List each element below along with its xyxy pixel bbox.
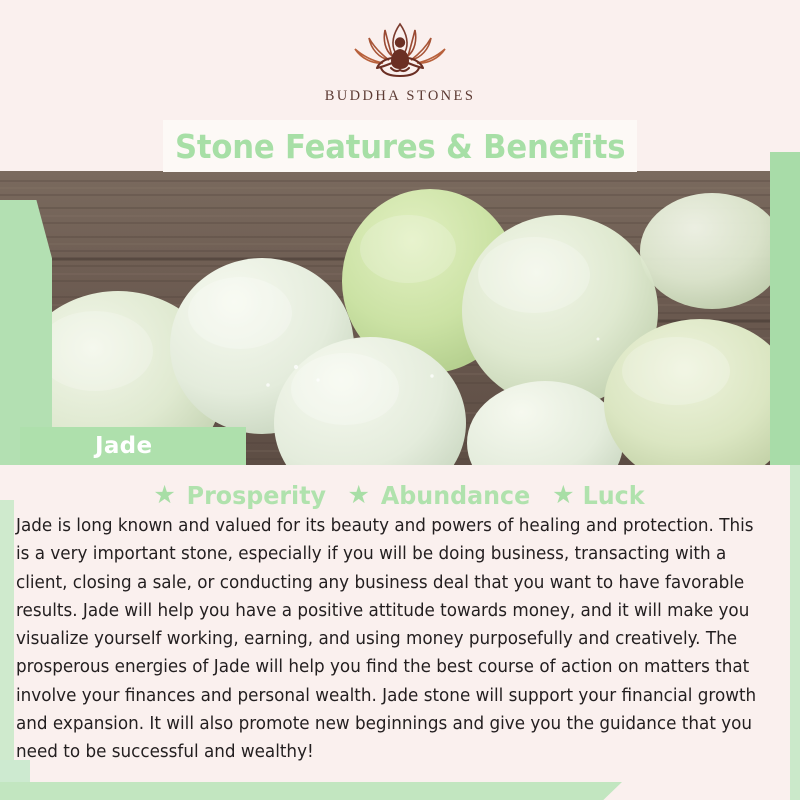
benefit-label: Prosperity bbox=[186, 481, 325, 510]
left-edge-green-strip bbox=[0, 500, 14, 762]
stone-name-text: Jade bbox=[95, 433, 152, 459]
page-title: Stone Features & Benefits bbox=[175, 127, 625, 166]
benefit-luck: ★ Luck bbox=[552, 481, 647, 510]
brand-logo: BUDDHA STONES bbox=[0, 18, 800, 113]
benefits-row: ★ Prosperity ★ Abundance ★ Luck bbox=[0, 478, 800, 512]
left-green-accent-bar bbox=[0, 200, 52, 465]
description-paragraph: Jade is long known and valued for its be… bbox=[16, 512, 761, 767]
star-icon: ★ bbox=[153, 483, 175, 508]
right-green-accent-bar bbox=[770, 152, 800, 465]
bottom-green-band bbox=[0, 782, 622, 800]
brand-name: BUDDHA STONES bbox=[325, 88, 476, 105]
stone-photo-graphic bbox=[0, 171, 800, 465]
star-icon: ★ bbox=[347, 483, 369, 508]
benefit-label: Luck bbox=[583, 481, 645, 510]
star-icon: ★ bbox=[552, 483, 574, 508]
title-banner: Stone Features & Benefits bbox=[163, 120, 637, 172]
stone-name-label: Jade bbox=[20, 427, 246, 465]
benefit-prosperity: ★ Prosperity bbox=[153, 481, 329, 510]
right-edge-green-strip bbox=[790, 465, 800, 800]
benefit-abundance: ★ Abundance bbox=[347, 481, 534, 510]
infographic-page: BUDDHA STONES Stone Features & Benefits bbox=[0, 0, 800, 800]
lotus-meditation-figure-icon bbox=[325, 18, 475, 86]
benefit-label: Abundance bbox=[381, 481, 530, 510]
stone-photo bbox=[0, 171, 800, 465]
